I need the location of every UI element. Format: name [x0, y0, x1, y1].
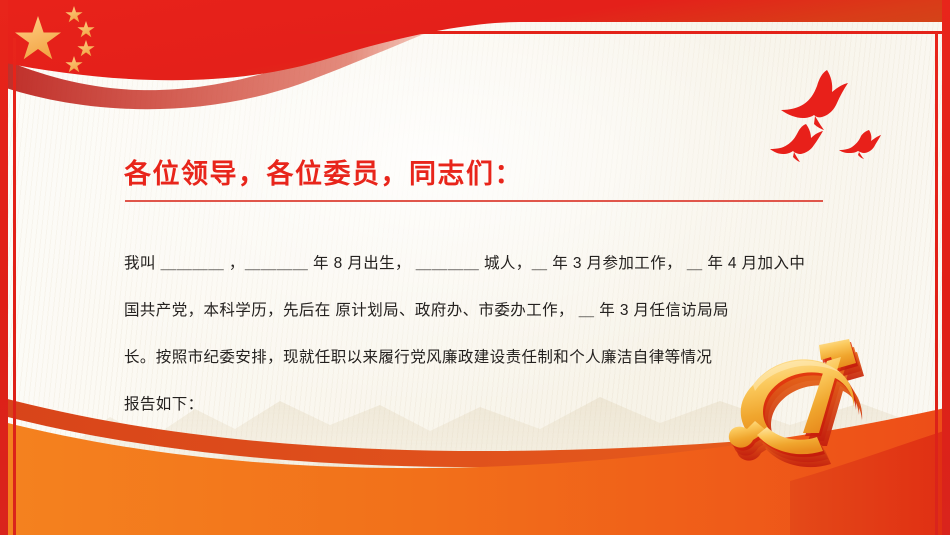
body-paragraph: 我叫 ＿＿＿＿ ，＿＿＿＿ 年 8 月出生， ＿＿＿＿ 城人，＿ 年 3 月参加…: [124, 240, 824, 428]
slide-canvas: 各位领导，各位委员，同志们： 我叫 ＿＿＿＿ ，＿＿＿＿ 年 8 月出生， ＿＿…: [0, 0, 950, 535]
page-title: 各位领导，各位委员，同志们：: [124, 152, 523, 191]
title-underline-rule: [125, 200, 823, 202]
left-red-rail-thin: [13, 38, 16, 535]
party-emblem-icon: [723, 333, 938, 483]
body-line: 国共产党，本科学历，先后在 原计划局、政府办、市委办工作， ＿ 年 3 月任信访…: [124, 287, 824, 334]
body-line: 报告如下：: [124, 381, 824, 428]
body-line: 我叫 ＿＿＿＿ ，＿＿＿＿ 年 8 月出生， ＿＿＿＿ 城人，＿ 年 3 月参加…: [124, 240, 824, 287]
flag-stars-icon: [8, 2, 128, 82]
top-accent-line: [300, 31, 950, 34]
right-red-rail-thick: [942, 0, 950, 535]
peace-doves-icon: [770, 62, 890, 172]
body-line: 长。按照市纪委安排，现就任职以来履行党风廉政建设责任制和个人廉洁自律等情况: [124, 334, 824, 381]
left-red-rail-thick: [0, 0, 8, 535]
